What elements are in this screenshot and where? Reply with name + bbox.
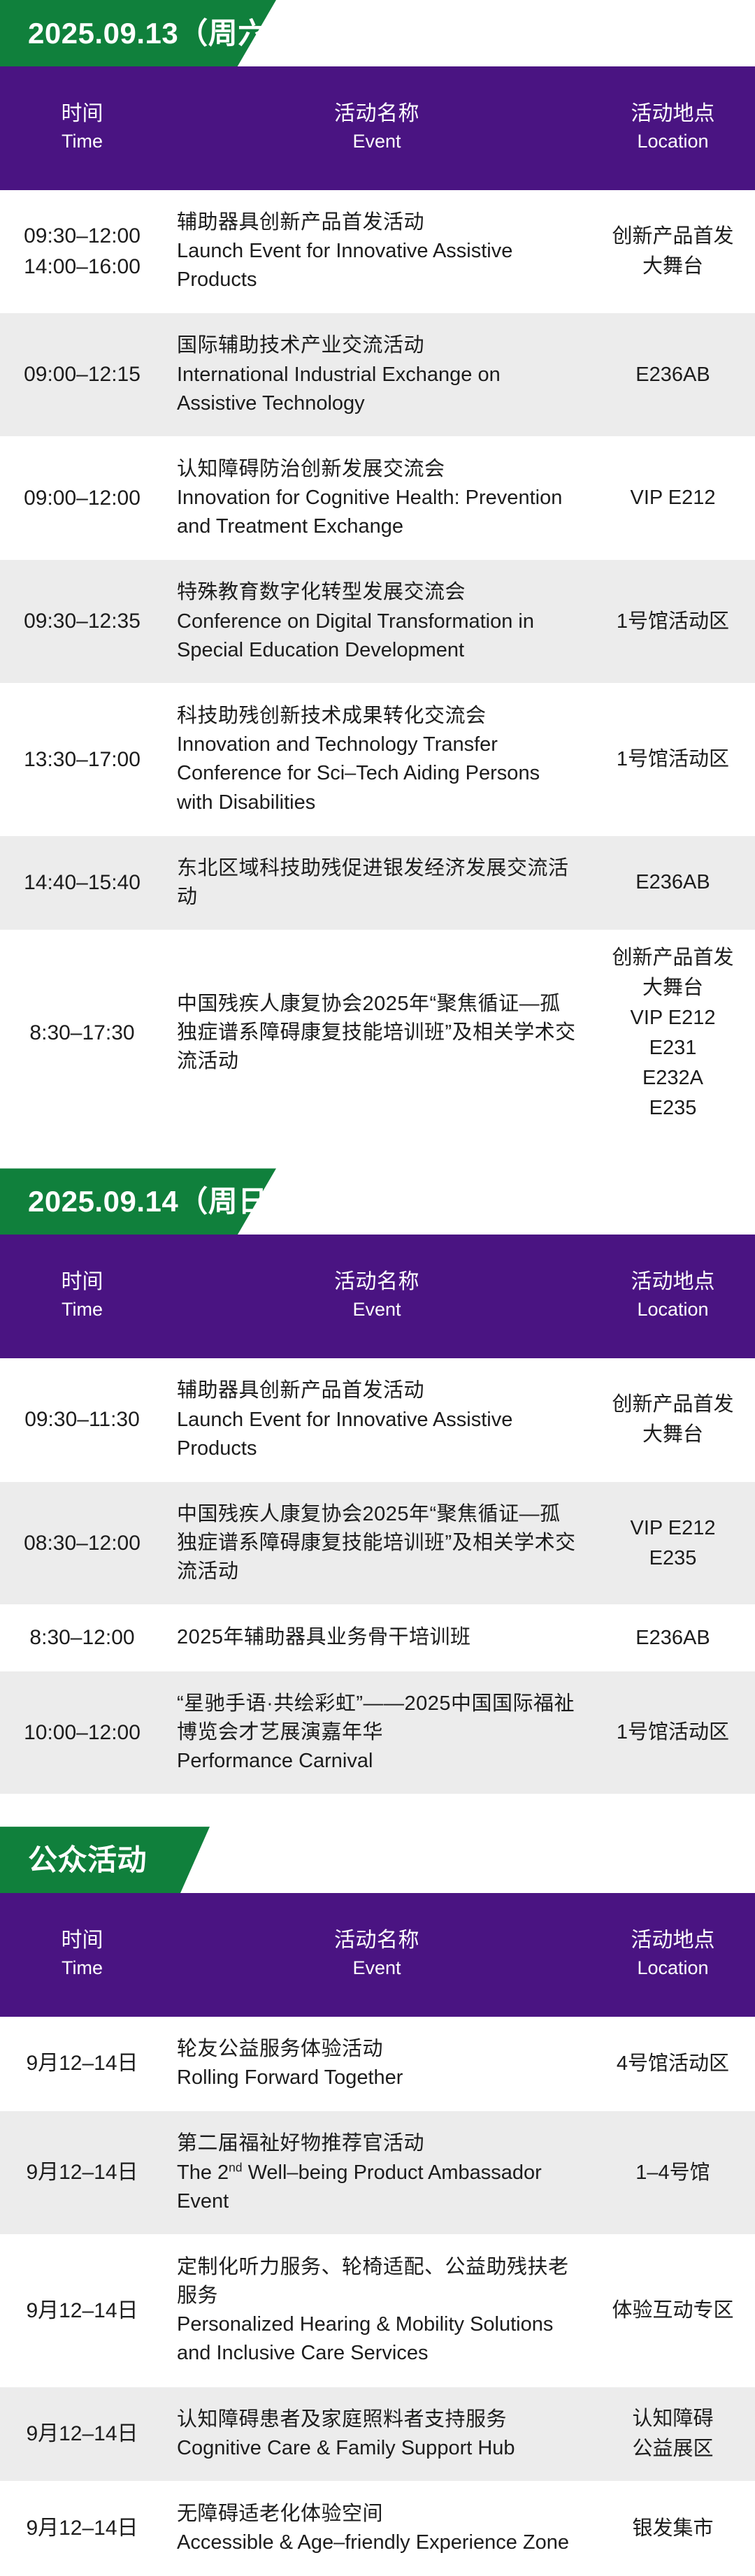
- row-location-line: 公益展区: [596, 2434, 749, 2464]
- row-time: 9月12–14日: [0, 2283, 164, 2339]
- row-location: 体验互动专区: [591, 2283, 755, 2338]
- row-time-line: 09:00–12:15: [3, 359, 161, 390]
- column-header-0: 时间Time活动名称Event活动地点Location: [0, 66, 755, 190]
- row-location: 4号馆活动区: [591, 2036, 755, 2092]
- column-header-location: 活动地点Location: [591, 1914, 755, 1993]
- row-location-line: 创新产品首发: [596, 943, 749, 973]
- column-header-location-cn: 活动地点: [596, 100, 749, 129]
- row-event-cn: 中国残疾人康复协会2025年“聚焦循证—孤独症谱系障碍康复技能培训班”及相关学术…: [177, 990, 577, 1077]
- row-location-line: 体验互动专区: [596, 2296, 749, 2326]
- row-event-cn: 辅助器具创新产品首发活动: [177, 1376, 577, 1405]
- row-location-line: 4号馆活动区: [596, 2049, 749, 2079]
- table-row: 9月12–14日认知障碍患者及家庭照料者支持服务Cognitive Care &…: [0, 2387, 755, 2482]
- row-time-line: 13:30–17:00: [3, 744, 161, 775]
- row-location: VIP E212: [591, 470, 755, 526]
- row-location: 创新产品首发大舞台VIP E212E231E232AE235: [591, 930, 755, 1135]
- row-event: 轮友公益服务体验活动Rolling Forward Together: [164, 2017, 591, 2110]
- row-event-en: Launch Event for Innovative Assistive Pr…: [177, 237, 577, 294]
- row-event-en: International Industrial Exchange on Ass…: [177, 361, 577, 418]
- row-event: 特殊教育数字化转型发展交流会Conference on Digital Tran…: [164, 560, 591, 683]
- row-event: 东北区域科技助残促进银发经济发展交流活动: [164, 836, 591, 930]
- row-event-cn: 轮友公益服务体验活动: [177, 2035, 577, 2064]
- row-time: 9月12–14日: [0, 2501, 164, 2556]
- row-event-cn: 第二届福祉好物推荐官活动: [177, 2129, 577, 2158]
- row-event-cn: “星驰手语·共绘彩虹”——2025中国国际福祉博览会才艺展演嘉年华: [177, 1690, 577, 1747]
- row-location-line: 1–4号馆: [596, 2158, 749, 2188]
- table-row: 8:30–17:30中国残疾人康复协会2025年“聚焦循证—孤独症谱系障碍康复技…: [0, 930, 755, 1136]
- row-time: 09:30–11:30: [0, 1392, 164, 1448]
- row-location-line: E236AB: [596, 868, 749, 898]
- row-location-line: 大舞台: [596, 973, 749, 1003]
- table-row: 08:30–12:00中国残疾人康复协会2025年“聚焦循证—孤独症谱系障碍康复…: [0, 1482, 755, 1606]
- row-time-line: 14:00–16:00: [3, 252, 161, 282]
- row-location-line: 1号馆活动区: [596, 744, 749, 775]
- row-location-line: 1号馆活动区: [596, 607, 749, 637]
- row-location: 1号馆活动区: [591, 594, 755, 649]
- column-header-location-en: Location: [596, 1297, 749, 1322]
- row-location-line: 银发集市: [596, 2514, 749, 2544]
- column-header-event-en: Event: [177, 1955, 577, 1980]
- section-banner-shape-wrap: 2025.09.13（周六）: [0, 0, 276, 66]
- row-location-line: 大舞台: [596, 1420, 749, 1450]
- row-location: 1号馆活动区: [591, 1705, 755, 1760]
- row-time: 09:30–12:0014:00–16:00: [0, 208, 164, 294]
- section-gap: [0, 1794, 755, 1827]
- row-event-en: Launch Event for Innovative Assistive Pr…: [177, 1406, 577, 1463]
- row-location: 认知障碍公益展区: [591, 2391, 755, 2477]
- row-event-cn: 辅助器具创新产品首发活动: [177, 208, 577, 237]
- column-header-location: 活动地点Location: [591, 87, 755, 166]
- row-event-cn: 特殊教育数字化转型发展交流会: [177, 578, 577, 607]
- row-event: 2025年辅助器具业务骨干培训班: [164, 1605, 591, 1670]
- column-header-time-en: Time: [3, 1297, 161, 1322]
- row-event-cn: 2025年辅助器具业务骨干培训班: [177, 1623, 577, 1652]
- column-header-time-cn: 时间: [3, 100, 161, 129]
- table-row: 14:40–15:40东北区域科技助残促进银发经济发展交流活动E236AB: [0, 836, 755, 930]
- column-header-event-cn: 活动名称: [177, 1268, 577, 1297]
- row-location: E236AB: [591, 855, 755, 910]
- table-row: 9月12–14日轮友公益服务体验活动Rolling Forward Togeth…: [0, 2017, 755, 2111]
- row-location-line: 创新产品首发: [596, 1390, 749, 1420]
- column-header-time: 时间Time: [0, 1914, 164, 1993]
- row-location-line: 认知障碍: [596, 2404, 749, 2434]
- row-time-line: 10:00–12:00: [3, 1718, 161, 1748]
- row-event-cn: 国际辅助技术产业交流活动: [177, 331, 577, 360]
- table-row: 09:30–12:35特殊教育数字化转型发展交流会Conference on D…: [0, 560, 755, 684]
- row-event: 辅助器具创新产品首发活动Launch Event for Innovative …: [164, 190, 591, 313]
- row-time: 09:00–12:00: [0, 470, 164, 526]
- table-row: 8:30–12:002025年辅助器具业务骨干培训班E236AB: [0, 1605, 755, 1671]
- row-time: 10:00–12:00: [0, 1705, 164, 1761]
- row-event: 认知障碍患者及家庭照料者支持服务Cognitive Care & Family …: [164, 2387, 591, 2481]
- row-location: 创新产品首发大舞台: [591, 209, 755, 294]
- row-location-line: E231: [596, 1033, 749, 1063]
- row-time: 8:30–17:30: [0, 1005, 164, 1061]
- row-time-line: 09:30–12:00: [3, 221, 161, 252]
- row-location-line: 创新产品首发: [596, 222, 749, 252]
- row-event-cn: 东北区域科技助残促进银发经济发展交流活动: [177, 854, 577, 912]
- row-time: 13:30–17:00: [0, 732, 164, 788]
- column-header-event-en: Event: [177, 1297, 577, 1322]
- row-location-line: VIP E212: [596, 483, 749, 513]
- row-location: 1–4号馆: [591, 2145, 755, 2201]
- row-event-en: Conference on Digital Transformation in …: [177, 607, 577, 665]
- section-gap: [0, 1136, 755, 1168]
- row-location-line: 1号馆活动区: [596, 1718, 749, 1748]
- row-event: 第二届福祉好物推荐官活动The 2nd Well–being Product A…: [164, 2111, 591, 2234]
- section-banner-shape-wrap: 公众活动: [0, 1827, 210, 1893]
- schedule-page: 2025.09.13（周六）时间Time活动名称Event活动地点Locatio…: [0, 0, 755, 2576]
- column-header-1: 时间Time活动名称Event活动地点Location: [0, 1235, 755, 1358]
- row-event-cn: 中国残疾人康复协会2025年“聚焦循证—孤独症谱系障碍康复技能培训班”及相关学术…: [177, 1500, 577, 1587]
- row-event: 无障碍适老化体验空间Accessible & Age–friendly Expe…: [164, 2482, 591, 2575]
- row-time-line: 9月12–14日: [3, 2296, 161, 2326]
- row-location-line: VIP E212: [596, 1003, 749, 1033]
- row-time: 9月12–14日: [0, 2406, 164, 2462]
- row-event-cn: 定制化听力服务、轮椅适配、公益助残扶老服务: [177, 2253, 577, 2310]
- table-row: 13:30–17:00科技助残创新技术成果转化交流会Innovation and…: [0, 684, 755, 836]
- column-header-time: 时间Time: [0, 1255, 164, 1334]
- column-header-time: 时间Time: [0, 87, 164, 166]
- row-location: E236AB: [591, 1611, 755, 1666]
- row-event: 科技助残创新技术成果转化交流会Innovation and Technology…: [164, 684, 591, 835]
- column-header-event: 活动名称Event: [164, 1908, 591, 1999]
- row-event: 辅助器具创新产品首发活动Launch Event for Innovative …: [164, 1358, 591, 1481]
- section-banner-title: 2025.09.13（周六）: [0, 19, 297, 48]
- section-banner-shape-wrap: 2025.09.14（周日）: [0, 1168, 276, 1235]
- row-time-line: 8:30–12:00: [3, 1622, 161, 1653]
- row-time: 9月12–14日: [0, 2036, 164, 2092]
- row-time-line: 08:30–12:00: [3, 1528, 161, 1559]
- column-header-event: 活动名称Event: [164, 1250, 591, 1340]
- column-header-time-cn: 时间: [3, 1268, 161, 1297]
- row-location: VIP E212E235: [591, 1501, 755, 1586]
- column-header-time-en: Time: [3, 1955, 161, 1980]
- row-time: 14:40–15:40: [0, 855, 164, 911]
- row-location: E236AB: [591, 347, 755, 403]
- row-location-line: E235: [596, 1093, 749, 1123]
- row-location-line: VIP E212: [596, 1513, 749, 1544]
- row-event-en: Performance Carnival: [177, 1747, 577, 1776]
- row-time-line: 8:30–17:30: [3, 1018, 161, 1049]
- column-header-location-cn: 活动地点: [596, 1268, 749, 1297]
- table-row: 9月12–14日无障碍适老化体验空间Accessible & Age–frien…: [0, 2482, 755, 2576]
- row-location-line: E235: [596, 1544, 749, 1574]
- row-location-line: E232A: [596, 1063, 749, 1093]
- row-time-line: 9月12–14日: [3, 2419, 161, 2449]
- row-time-line: 14:40–15:40: [3, 868, 161, 898]
- row-event: 认知障碍防治创新发展交流会Innovation for Cognitive He…: [164, 437, 591, 560]
- row-event: 中国残疾人康复协会2025年“聚焦循证—孤独症谱系障碍康复技能培训班”及相关学术…: [164, 1482, 591, 1605]
- row-event: 中国残疾人康复协会2025年“聚焦循证—孤独症谱系障碍康复技能培训班”及相关学术…: [164, 972, 591, 1095]
- row-event-cn: 无障碍适老化体验空间: [177, 2500, 577, 2528]
- column-header-location-en: Location: [596, 129, 749, 154]
- section-banner-1: 2025.09.14（周日）: [0, 1168, 755, 1235]
- row-time-line: 9月12–14日: [3, 2048, 161, 2079]
- row-event-cn: 认知障碍防治创新发展交流会: [177, 455, 577, 484]
- row-location: 创新产品首发大舞台: [591, 1377, 755, 1462]
- table-row: 09:00–12:15国际辅助技术产业交流活动International Ind…: [0, 313, 755, 437]
- row-event-en: The 2nd Well–being Product Ambassador Ev…: [177, 2159, 577, 2216]
- row-time-line: 9月12–14日: [3, 2513, 161, 2544]
- row-location-line: 大舞台: [596, 252, 749, 282]
- column-header-location: 活动地点Location: [591, 1255, 755, 1334]
- column-header-event-cn: 活动名称: [177, 1927, 577, 1955]
- section-banner-title: 2025.09.14（周日）: [0, 1187, 297, 1216]
- column-header-event: 活动名称Event: [164, 82, 591, 172]
- row-event-cn: 认知障碍患者及家庭照料者支持服务: [177, 2405, 577, 2434]
- row-event-cn: 科技助残创新技术成果转化交流会: [177, 702, 577, 731]
- row-location: 银发集市: [591, 2501, 755, 2556]
- row-event-en: Innovation for Cognitive Health: Prevent…: [177, 484, 577, 541]
- table-row: 09:00–12:00认知障碍防治创新发展交流会Innovation for C…: [0, 437, 755, 561]
- column-header-time-cn: 时间: [3, 1927, 161, 1955]
- table-row: 9月12–14日定制化听力服务、轮椅适配、公益助残扶老服务Personalize…: [0, 2235, 755, 2387]
- row-time-line: 9月12–14日: [3, 2157, 161, 2188]
- row-event-en: Cognitive Care & Family Support Hub: [177, 2434, 577, 2463]
- row-event-en: Innovation and Technology Transfer Confe…: [177, 731, 577, 817]
- row-event-en: Personalized Hearing & Mobility Solution…: [177, 2310, 577, 2368]
- table-row: 09:30–11:30辅助器具创新产品首发活动Launch Event for …: [0, 1358, 755, 1482]
- table-row: 09:30–12:0014:00–16:00辅助器具创新产品首发活动Launch…: [0, 190, 755, 314]
- column-header-2: 时间Time活动名称Event活动地点Location: [0, 1893, 755, 2017]
- column-header-location-en: Location: [596, 1955, 749, 1980]
- row-time: 08:30–12:00: [0, 1516, 164, 1571]
- table-row: 9月12–14日第二届福祉好物推荐官活动The 2nd Well–being P…: [0, 2111, 755, 2235]
- row-time: 09:00–12:15: [0, 347, 164, 403]
- row-time-line: 09:30–11:30: [3, 1404, 161, 1435]
- row-event-en: Accessible & Age–friendly Experience Zon…: [177, 2528, 577, 2557]
- row-event: “星驰手语·共绘彩虹”——2025中国国际福祉博览会才艺展演嘉年华Perform…: [164, 1671, 591, 1794]
- row-time-line: 09:00–12:00: [3, 483, 161, 514]
- row-time: 09:30–12:35: [0, 593, 164, 649]
- row-event: 定制化听力服务、轮椅适配、公益助残扶老服务Personalized Hearin…: [164, 2235, 591, 2387]
- column-header-event-en: Event: [177, 129, 577, 154]
- section-banner-0: 2025.09.13（周六）: [0, 0, 755, 66]
- row-time-line: 09:30–12:35: [3, 606, 161, 637]
- row-location-line: E236AB: [596, 360, 749, 390]
- section-banner-2: 公众活动: [0, 1827, 755, 1893]
- row-location: 1号馆活动区: [591, 732, 755, 787]
- column-header-event-cn: 活动名称: [177, 100, 577, 129]
- row-time: 9月12–14日: [0, 2145, 164, 2201]
- row-event: 国际辅助技术产业交流活动International Industrial Exc…: [164, 313, 591, 436]
- table-row: 10:00–12:00“星驰手语·共绘彩虹”——2025中国国际福祉博览会才艺展…: [0, 1671, 755, 1795]
- row-event-en: Rolling Forward Together: [177, 2064, 577, 2092]
- section-banner-title: 公众活动: [0, 1845, 147, 1875]
- row-time: 8:30–12:00: [0, 1610, 164, 1666]
- column-header-time-en: Time: [3, 129, 161, 154]
- column-header-location-cn: 活动地点: [596, 1927, 749, 1955]
- row-location-line: E236AB: [596, 1623, 749, 1653]
